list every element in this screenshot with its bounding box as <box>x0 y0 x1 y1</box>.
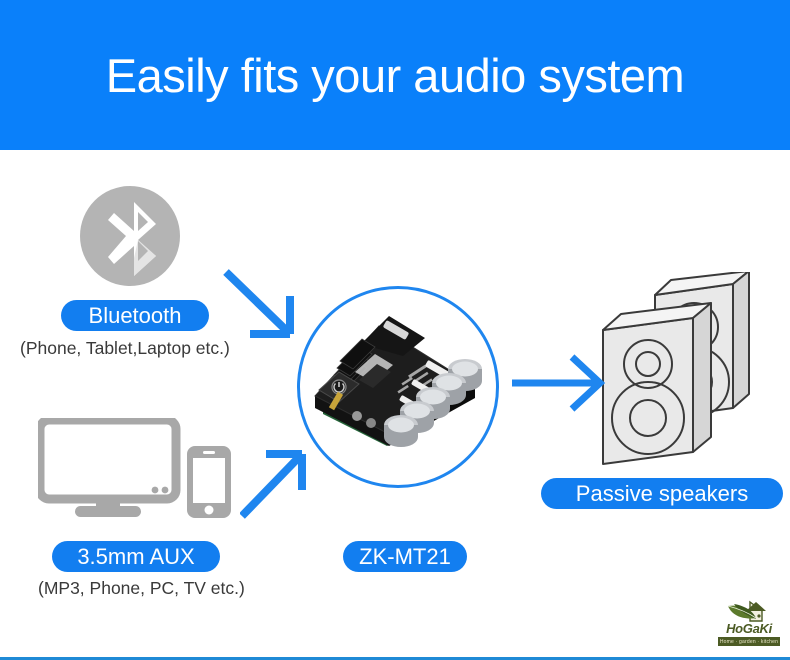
arrow-board-to-speakers-icon <box>506 352 616 414</box>
monitor-icon <box>38 418 188 518</box>
smartphone-icon <box>185 444 233 520</box>
arrow-aux-to-board-icon <box>240 428 340 520</box>
passive-speakers-icon <box>593 272 773 468</box>
header-banner: Easily fits your audio system <box>0 0 790 150</box>
bluetooth-icon <box>80 186 180 286</box>
brand-wordmark: HoGaKi <box>716 622 782 636</box>
brand-tagline: Home · garden · kitchen <box>718 637 780 646</box>
device-label-text: ZK-MT21 <box>359 544 451 570</box>
device-label-pill[interactable]: ZK-MT21 <box>343 541 467 572</box>
infographic-canvas: Easily fits your audio system Bluetooth … <box>0 0 790 660</box>
bluetooth-caption: (Phone, Tablet,Laptop etc.) <box>20 338 230 359</box>
output-label-pill[interactable]: Passive speakers <box>541 478 783 509</box>
arrow-bluetooth-to-board-icon <box>222 268 332 360</box>
brand-logo: HoGaKi Home · garden · kitchen <box>716 600 782 648</box>
page-title: Easily fits your audio system <box>0 0 790 150</box>
aux-label-text: 3.5mm AUX <box>77 544 194 570</box>
bluetooth-label-pill[interactable]: Bluetooth <box>61 300 209 331</box>
aux-caption: (MP3, Phone, PC, TV etc.) <box>38 578 245 599</box>
bluetooth-label-text: Bluetooth <box>89 303 182 329</box>
aux-label-pill[interactable]: 3.5mm AUX <box>52 541 220 572</box>
output-label-text: Passive speakers <box>576 481 748 507</box>
